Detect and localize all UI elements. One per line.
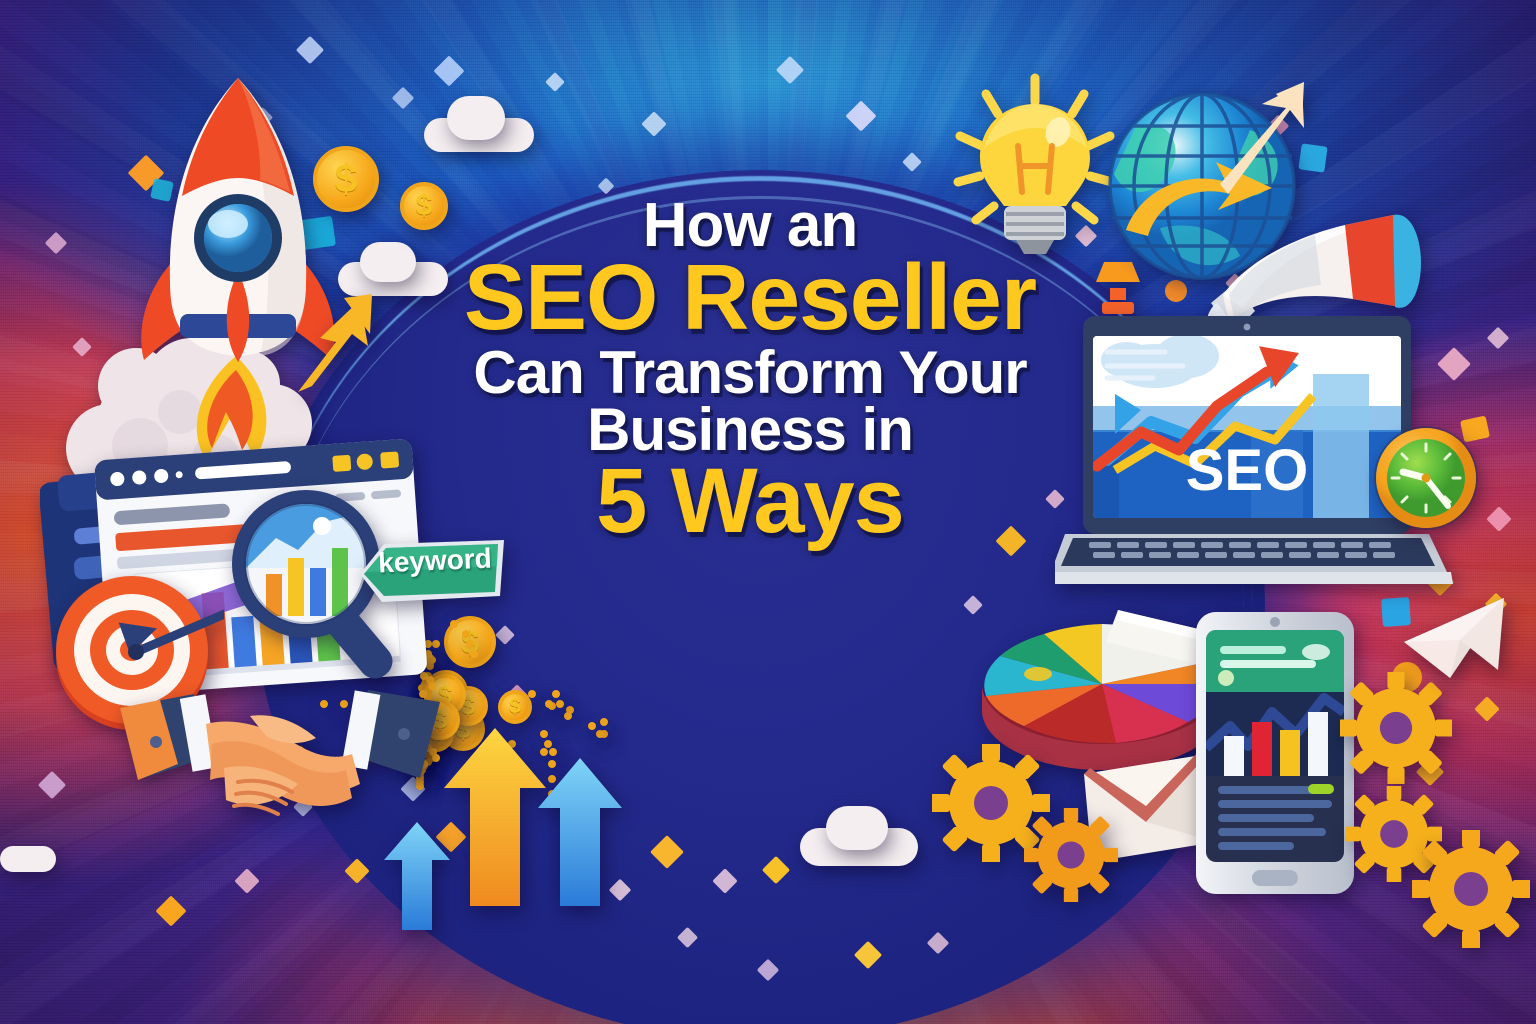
confetti-diamond <box>650 835 684 869</box>
confetti-diamond <box>757 959 780 982</box>
gold-coin-icon <box>470 650 478 658</box>
confetti-diamond <box>854 941 882 969</box>
paper-plane-icon <box>1398 586 1518 696</box>
clock-icon <box>1372 424 1480 532</box>
title-line-3: Can Transform Your <box>420 344 1080 402</box>
title-line-2: SEO Reseller <box>420 252 1080 342</box>
confetti-diamond <box>641 111 666 136</box>
gold-coin-icon <box>588 722 596 730</box>
gear-icon <box>1024 808 1118 902</box>
gold-coin-icon <box>545 700 553 708</box>
gold-coin-icon <box>528 690 536 698</box>
coin-symbol: $ <box>335 157 357 202</box>
gold-coin-icon <box>596 730 604 738</box>
gold-coin-icon: $ <box>313 146 379 212</box>
coin-symbol: $ <box>509 695 521 719</box>
gold-coin-icon <box>462 630 470 638</box>
gold-coin-icon <box>556 700 564 708</box>
confetti-diamond <box>598 178 615 195</box>
title-line-5: 5 Ways <box>420 457 1080 546</box>
gold-coin-icon <box>466 640 474 648</box>
blue-up-arrow-icon <box>534 756 626 906</box>
confetti-diamond <box>495 625 515 645</box>
gold-coin-icon <box>552 690 560 698</box>
confetti-diamond <box>1487 327 1510 350</box>
confetti-diamond <box>1486 506 1511 531</box>
confetti-diamond <box>1474 696 1499 721</box>
gear-icon <box>1412 830 1530 948</box>
confetti-diamond <box>845 100 876 131</box>
gold-coin-icon <box>564 712 572 720</box>
confetti-diamond <box>155 895 186 926</box>
blue-up-arrow-small-icon <box>382 820 452 930</box>
confetti-diamond <box>38 771 66 799</box>
cloud-icon <box>0 846 56 872</box>
keyword-tag-label: keyword <box>372 542 497 579</box>
page-title: How an SEO Reseller Can Transform Your B… <box>420 196 1080 546</box>
gold-coin-icon <box>549 748 557 756</box>
confetti-diamond <box>927 932 950 955</box>
confetti-diamond <box>762 856 790 884</box>
confetti-diamond <box>776 56 804 84</box>
rocket-icon <box>40 56 480 476</box>
gold-coin-icon: $ <box>498 690 532 724</box>
confetti-diamond <box>677 927 698 948</box>
gold-coin-icon <box>600 718 608 726</box>
poster-canvas: $ $ $ $ $ $ $ $ $ <box>0 0 1536 1024</box>
confetti-diamond <box>234 868 259 893</box>
cloud-icon <box>826 806 888 850</box>
confetti-diamond <box>712 868 737 893</box>
confetti-diamond <box>545 72 565 92</box>
gold-arrow-icon <box>286 290 378 400</box>
confetti-diamond <box>902 152 922 172</box>
laptop-seo-label: SEO <box>1186 438 1309 503</box>
smartphone-icon <box>1190 608 1360 898</box>
